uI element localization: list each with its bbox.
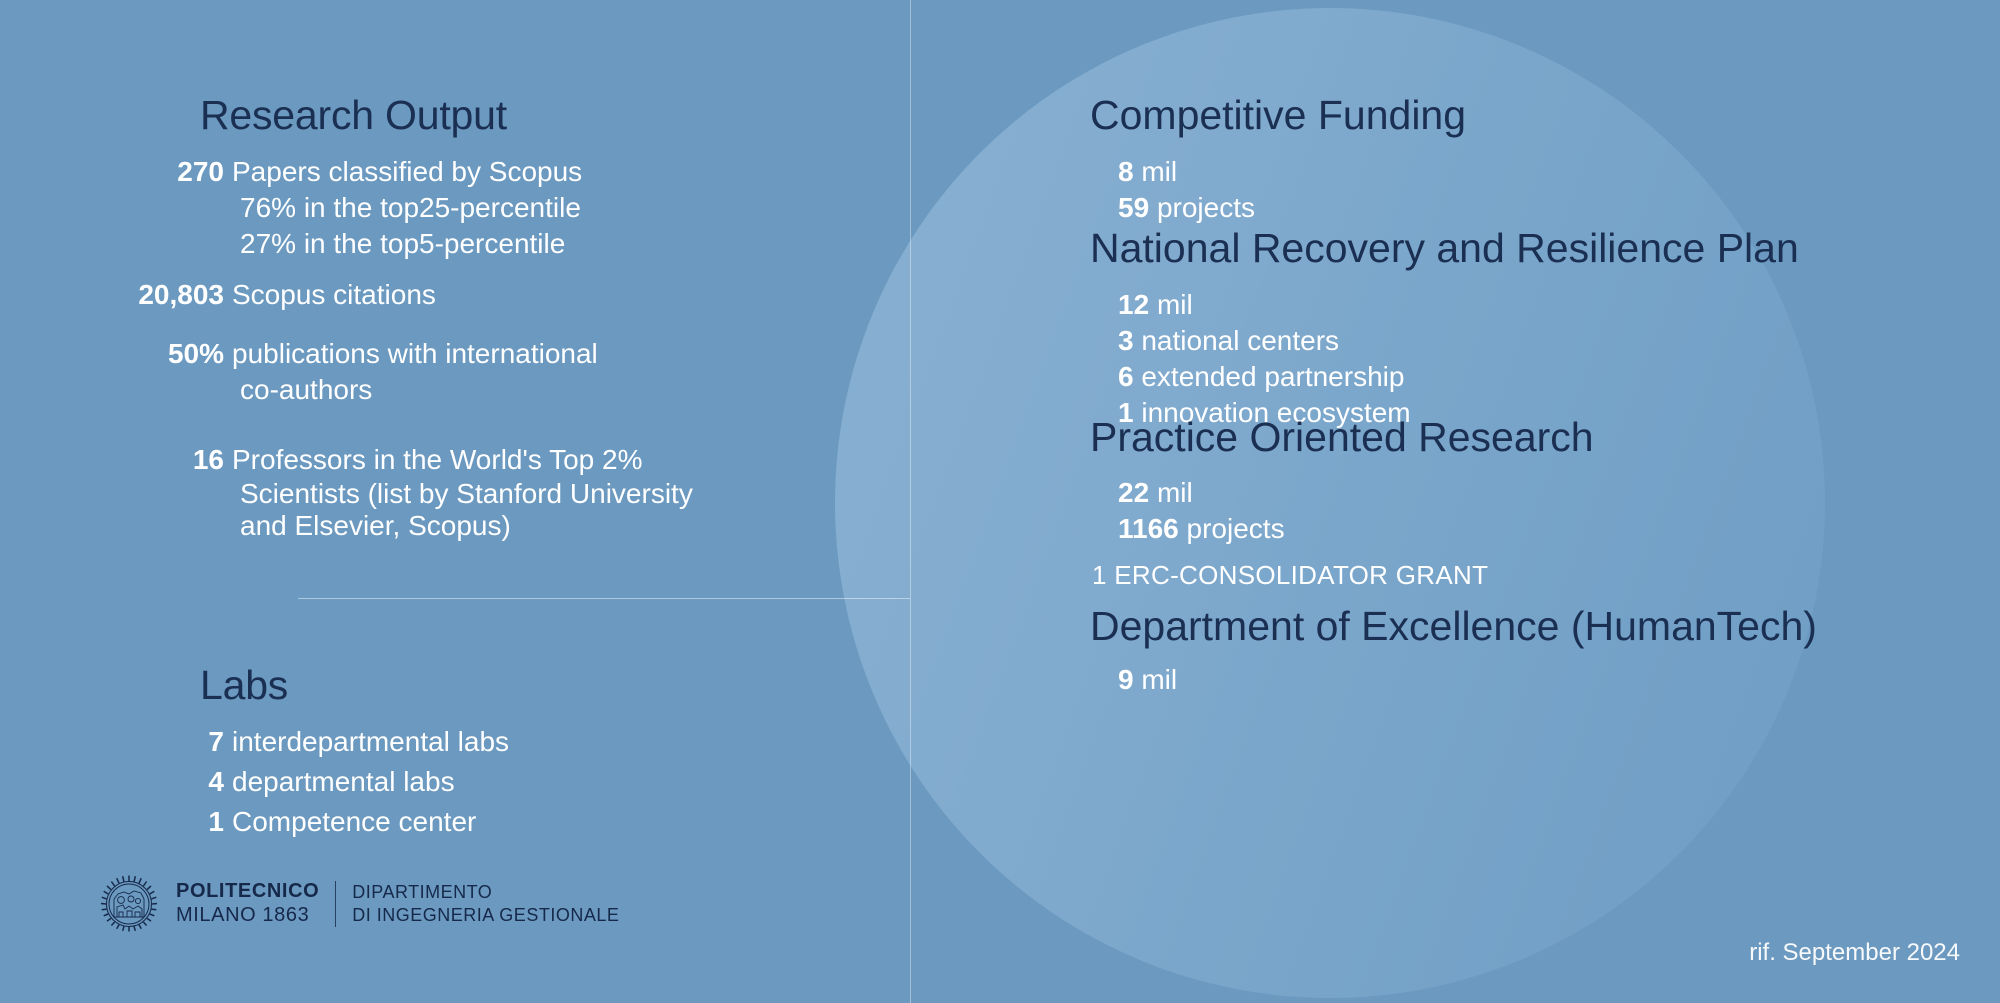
practice-oriented-research-title: Practice Oriented Research	[1090, 414, 1594, 461]
competitive-funding-title: Competitive Funding	[1090, 92, 1466, 139]
stat-block-excellence: 9 mil	[1118, 662, 1177, 698]
politecnico-logo: POLITECNICO MILANO 1863 DIPARTIMENTO DI …	[98, 868, 619, 940]
logo-name-line2: MILANO 1863	[176, 904, 319, 928]
stat-subline: 27% in the top5-percentile	[0, 226, 740, 262]
stat-row: 6 extended partnership	[1118, 359, 1411, 395]
infographic-slide: Research Output 270 Papers classified by…	[0, 0, 2000, 1003]
labs-title: Labs	[200, 662, 288, 709]
stat-number: 16	[0, 442, 232, 478]
stat-block-papers: 270 Papers classified by Scopus 76% in t…	[0, 154, 740, 262]
stat-number: 22	[1118, 477, 1157, 508]
stat-block-publications: 50% publications with international co-a…	[0, 336, 740, 408]
stat-label: publications with international	[232, 336, 740, 372]
politecnico-name: POLITECNICO MILANO 1863	[176, 880, 319, 927]
research-output-title: Research Output	[200, 92, 507, 139]
stat-row: 1 Competence center	[0, 802, 740, 842]
stat-subline: 76% in the top25-percentile	[0, 190, 740, 226]
stat-number: 8	[1118, 156, 1141, 187]
stat-label: mil	[1141, 156, 1177, 187]
erc-consolidator-grant-line: 1 ERC-CONSOLIDATOR GRANT	[1092, 560, 1488, 591]
stat-label: Scopus citations	[232, 277, 740, 313]
stat-row: 20,803 Scopus citations	[0, 277, 740, 313]
stat-label: departmental labs	[232, 762, 740, 802]
stat-number: 6	[1118, 361, 1141, 392]
stat-number: 12	[1118, 289, 1157, 320]
stat-label: projects	[1157, 192, 1255, 223]
stat-row: 8 mil	[1118, 154, 1255, 190]
logo-dept-line2: DI INGEGNERIA GESTIONALE	[352, 904, 619, 927]
logo-name-line1: POLITECNICO	[176, 880, 319, 904]
stat-label: mil	[1157, 289, 1193, 320]
stat-label: Papers classified by Scopus	[232, 154, 740, 190]
department-name: DIPARTIMENTO DI INGEGNERIA GESTIONALE	[352, 881, 619, 928]
stat-block-practice-oriented-research: 22 mil 1166 projects	[1118, 475, 1285, 547]
stat-label: Competence center	[232, 802, 740, 842]
stat-number: 59	[1118, 192, 1157, 223]
stat-row: 4 departmental labs	[0, 762, 740, 802]
stat-subline: and Elsevier, Scopus)	[0, 510, 740, 542]
stat-label: mil	[1157, 477, 1193, 508]
stat-number: 1166	[1118, 513, 1187, 544]
stat-row: 3 national centers	[1118, 323, 1411, 359]
stat-block-nrrp: 12 mil 3 national centers 6 extended par…	[1118, 287, 1411, 431]
stat-label: projects	[1187, 513, 1285, 544]
stat-number: 50%	[0, 336, 232, 372]
stat-block-competitive-funding: 8 mil 59 projects	[1118, 154, 1255, 226]
stat-label: extended partnership	[1141, 361, 1404, 392]
stat-number: 1	[0, 802, 232, 842]
stat-row: 1166 projects	[1118, 511, 1285, 547]
nrrp-title: National Recovery and Resilience Plan	[1090, 225, 1799, 272]
logo-dept-line1: DIPARTIMENTO	[352, 881, 619, 904]
stat-number: 9	[1118, 664, 1141, 695]
stat-row: 7 interdepartmental labs	[0, 722, 740, 762]
reference-date: rif. September 2024	[1749, 939, 1960, 967]
right-column: Competitive Funding 8 mil 59 projects Na…	[910, 0, 2000, 1003]
stat-number: 270	[0, 154, 232, 190]
stat-label: national centers	[1141, 325, 1339, 356]
stat-number: 4	[0, 762, 232, 802]
left-column: Research Output 270 Papers classified by…	[0, 0, 910, 1003]
stat-label: mil	[1141, 664, 1177, 695]
stat-row: 9 mil	[1118, 662, 1177, 698]
stat-row: 22 mil	[1118, 475, 1285, 511]
stat-row: 12 mil	[1118, 287, 1411, 323]
stat-label: interdepartmental labs	[232, 722, 740, 762]
stat-label: Professors in the World's Top 2%	[232, 442, 740, 478]
stat-block-labs: 7 interdepartmental labs 4 departmental …	[0, 722, 740, 842]
stat-block-citations: 20,803 Scopus citations	[0, 277, 740, 313]
stat-row: 50% publications with international	[0, 336, 740, 372]
stat-subline: co-authors	[0, 372, 740, 408]
horizontal-divider	[298, 598, 910, 599]
stat-row: 270 Papers classified by Scopus	[0, 154, 740, 190]
stat-row: 16 Professors in the World's Top 2%	[0, 442, 740, 478]
stat-subline: Scientists (list by Stanford University	[0, 478, 740, 510]
logo-wordmark: POLITECNICO MILANO 1863 DIPARTIMENTO DI …	[176, 880, 619, 927]
stat-block-professors: 16 Professors in the World's Top 2% Scie…	[0, 442, 740, 542]
politecnico-seal-icon	[98, 873, 160, 935]
stat-row: 59 projects	[1118, 190, 1255, 226]
stat-number: 20,803	[0, 277, 232, 313]
department-of-excellence-title: Department of Excellence (HumanTech)	[1090, 603, 1817, 650]
stat-number: 3	[1118, 325, 1141, 356]
logo-separator	[335, 881, 336, 927]
stat-number: 7	[0, 722, 232, 762]
